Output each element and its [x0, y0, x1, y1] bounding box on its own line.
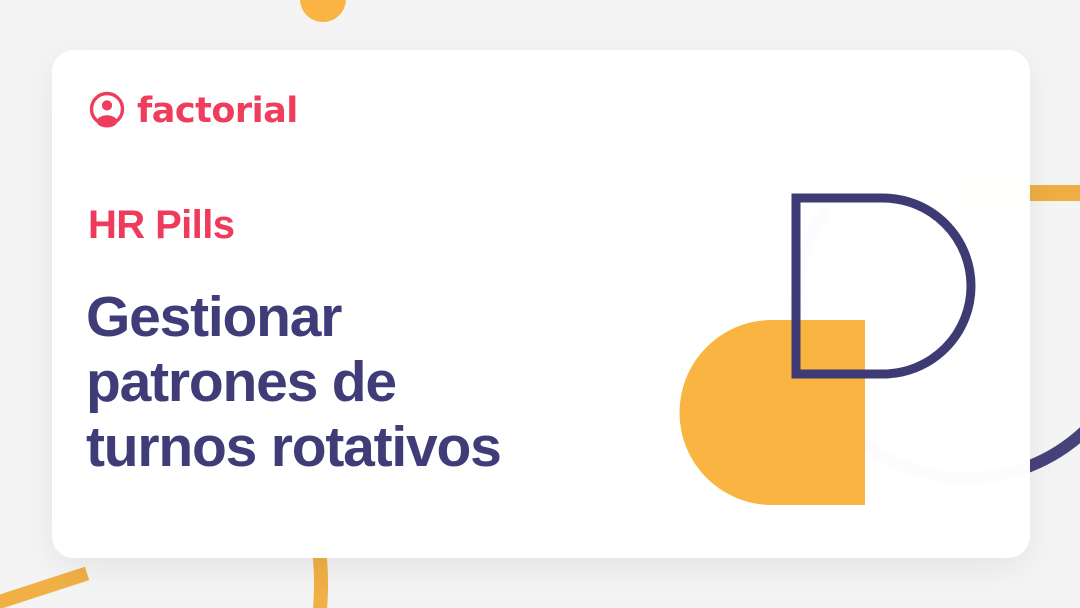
- card-content: factorial HR Pills Gestionar patrones de…: [52, 50, 1030, 558]
- user-in-circle-icon: [88, 90, 126, 133]
- hero-graphic: [612, 135, 1012, 535]
- page-title: Gestionar patrones de turnos rotativos: [86, 285, 646, 480]
- content-card: factorial HR Pills Gestionar patrones de…: [52, 50, 1030, 558]
- brand-wordmark: factorial: [137, 94, 298, 129]
- slide-canvas: factorial HR Pills Gestionar patrones de…: [0, 0, 1080, 608]
- decorative-circle-top: [300, 0, 346, 22]
- eyebrow-label: HR Pills: [88, 205, 234, 245]
- orange-d-filled-shape: [680, 320, 866, 505]
- brand-logo: factorial: [88, 90, 298, 133]
